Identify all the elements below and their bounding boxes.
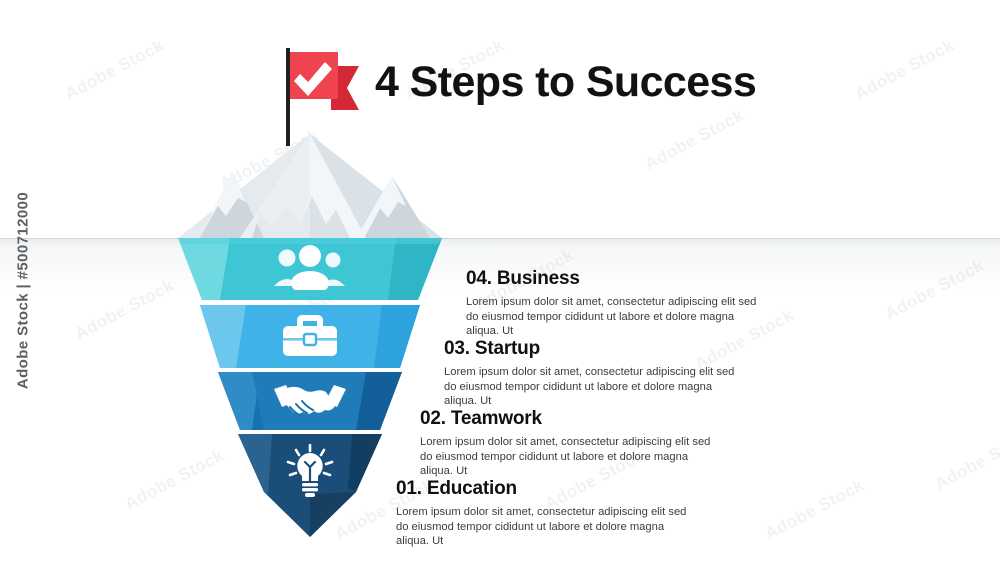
step-body: Lorem ipsum dolor sit amet, consectetur … bbox=[466, 295, 766, 339]
step-block-01: 01. Education Lorem ipsum dolor sit amet… bbox=[396, 478, 696, 549]
step-body: Lorem ipsum dolor sit amet, consectetur … bbox=[420, 435, 720, 479]
watermark-tile: Adobe Stock bbox=[762, 475, 868, 544]
watermark-tile: Adobe Stock bbox=[852, 35, 958, 104]
iceberg-segment-03 bbox=[200, 305, 420, 368]
step-heading: 03. Startup bbox=[444, 338, 744, 360]
iceberg-segment-02 bbox=[218, 372, 402, 430]
step-body: Lorem ipsum dolor sit amet, consectetur … bbox=[444, 365, 744, 409]
watermark-tile: Adobe Stock bbox=[932, 425, 1000, 494]
step-body: Lorem ipsum dolor sit amet, consectetur … bbox=[396, 505, 696, 549]
page-title: 4 Steps to Success bbox=[375, 58, 756, 107]
iceberg-segment-01 bbox=[238, 434, 382, 537]
waterline-edge bbox=[0, 238, 1000, 239]
watermark-tile: Adobe Stock bbox=[62, 35, 168, 104]
step-heading: 01. Education bbox=[396, 478, 696, 500]
step-block-04: 04. Business Lorem ipsum dolor sit amet,… bbox=[466, 268, 766, 339]
step-block-02: 02. Teamwork Lorem ipsum dolor sit amet,… bbox=[420, 408, 720, 479]
mountain-peak-icon bbox=[178, 134, 442, 238]
iceberg-segment-04 bbox=[178, 238, 442, 300]
infographic-canvas: Adobe Stock Adobe Stock Adobe Stock Adob… bbox=[0, 0, 1000, 563]
stock-watermark-label: Adobe Stock | #500712000 bbox=[15, 166, 32, 416]
step-block-03: 03. Startup Lorem ipsum dolor sit amet, … bbox=[444, 338, 744, 409]
page-header: 4 Steps to Success bbox=[283, 42, 843, 142]
step-heading: 04. Business bbox=[466, 268, 766, 290]
step-heading: 02. Teamwork bbox=[420, 408, 720, 430]
watermark-tile: Adobe Stock bbox=[882, 255, 988, 324]
